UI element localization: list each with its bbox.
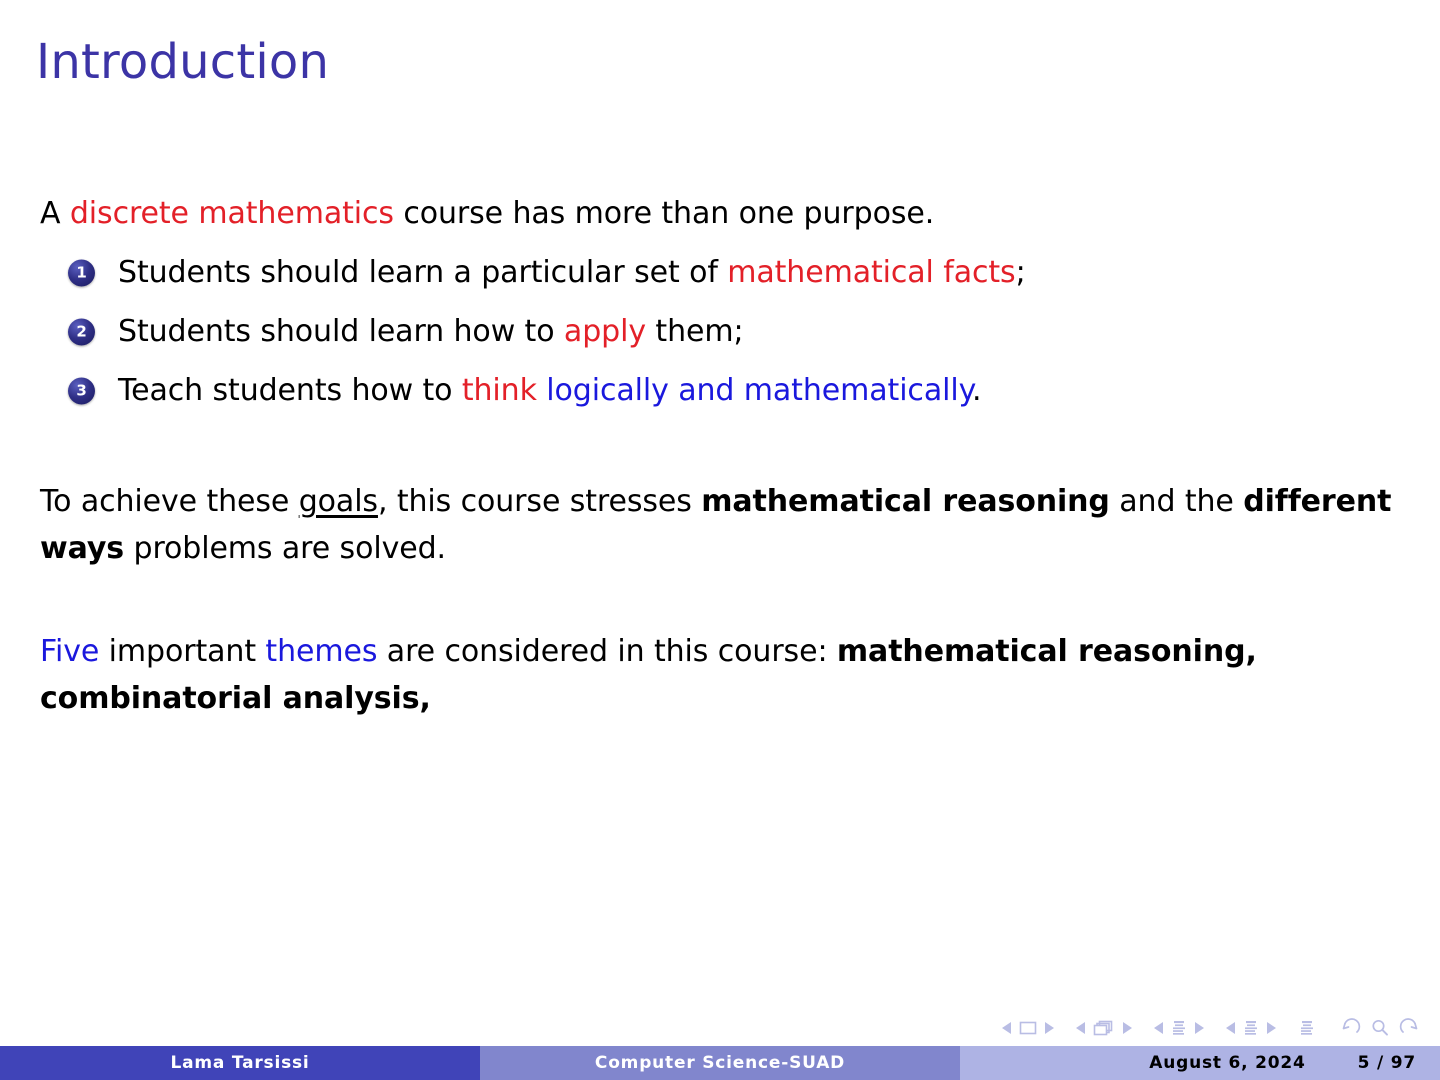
section-icon[interactable] (1242, 1019, 1260, 1037)
document-nav-group[interactable] (1298, 1019, 1316, 1037)
footer-page-number: 5 / 97 (1358, 1053, 1416, 1073)
list-number-badge: 3 (68, 377, 95, 404)
footer-date: August 6, 2024 (1149, 1053, 1305, 1073)
document-icon[interactable] (1298, 1019, 1316, 1037)
item-highlight-red: mathematical facts (727, 255, 1015, 290)
footer-meta: August 6, 2024 5 / 97 (960, 1046, 1440, 1080)
item-highlight-blue: logically and mathematically (537, 373, 972, 408)
slide-icon[interactable] (1018, 1020, 1038, 1036)
item-highlight-red: think (462, 373, 537, 408)
subsection-icon[interactable] (1170, 1019, 1188, 1037)
subsection-nav-group[interactable] (1154, 1019, 1204, 1037)
prev-section-icon[interactable] (1226, 1022, 1235, 1034)
next-slide-icon[interactable] (1045, 1022, 1054, 1034)
list-item: 2Students should learn how to apply them… (40, 302, 1400, 361)
prev-frame-icon[interactable] (1076, 1022, 1085, 1034)
lead-post: course has more than one purpose. (394, 196, 934, 231)
themes-bold-1: mathematical reasoning, (837, 634, 1257, 669)
forward-icon[interactable] (1398, 1018, 1422, 1038)
history-nav-group[interactable] (1338, 1018, 1422, 1038)
beamer-slide: { "slide": { "title": "Introduction", "l… (0, 0, 1440, 1080)
list-number-badge: 2 (68, 318, 95, 345)
goals-bold-1: mathematical reasoning (701, 484, 1110, 519)
item-post: ; (1016, 255, 1026, 290)
prev-subsection-icon[interactable] (1154, 1022, 1163, 1034)
frame-nav-group[interactable] (1076, 1019, 1132, 1037)
list-number-badge: 1 (68, 259, 95, 286)
footer-author: Lama Tarsissi (0, 1046, 480, 1080)
next-section-icon[interactable] (1267, 1022, 1276, 1034)
next-subsection-icon[interactable] (1195, 1022, 1204, 1034)
lead-highlight: discrete mathematics (70, 196, 394, 231)
themes-paragraph: Five important themes are considered in … (40, 628, 1400, 722)
list-item: 3Teach students how to think logically a… (40, 361, 1400, 420)
enumerated-list: 1Students should learn a particular set … (40, 243, 1400, 420)
goals-paragraph: To achieve these goals, this course stre… (40, 478, 1400, 572)
item-post: . (972, 373, 981, 408)
next-frame-icon[interactable] (1123, 1022, 1132, 1034)
themes-text-1: important (99, 634, 265, 669)
item-highlight-red: apply (564, 314, 646, 349)
section-nav-group[interactable] (1226, 1019, 1276, 1037)
themes-text-2: are considered in this course: (377, 634, 837, 669)
item-post: them; (646, 314, 744, 349)
goals-underlined: goals (299, 484, 378, 519)
lead-paragraph: A discrete mathematics course has more t… (40, 190, 1400, 237)
slide-body: A discrete mathematics course has more t… (40, 190, 1400, 722)
themes-bold-2: combinatorial analysis, (40, 681, 431, 716)
beamer-navigation-bar[interactable] (1002, 1018, 1422, 1038)
item-pre: Students should learn how to (118, 314, 564, 349)
page-title: Introduction (36, 34, 329, 90)
goals-text-2: , this course stresses (378, 484, 701, 519)
slide-nav-group[interactable] (1002, 1020, 1054, 1036)
slide-footer: Lama Tarsissi Computer Science-SUAD Augu… (0, 1046, 1440, 1080)
search-icon[interactable] (1369, 1018, 1391, 1038)
prev-slide-icon[interactable] (1002, 1022, 1011, 1034)
goals-text-1: To achieve these (40, 484, 299, 519)
item-pre: Students should learn a particular set o… (118, 255, 727, 290)
item-pre: Teach students how to (118, 373, 462, 408)
goals-text-3: and the (1110, 484, 1243, 519)
themes-blue-2: themes (265, 634, 377, 669)
back-icon[interactable] (1338, 1018, 1362, 1038)
lead-pre: A (40, 196, 70, 231)
frame-icon[interactable] (1092, 1019, 1116, 1037)
footer-institute: Computer Science-SUAD (480, 1046, 960, 1080)
list-item: 1Students should learn a particular set … (40, 243, 1400, 302)
themes-blue-1: Five (40, 634, 99, 669)
goals-text-4: problems are solved. (124, 531, 446, 566)
